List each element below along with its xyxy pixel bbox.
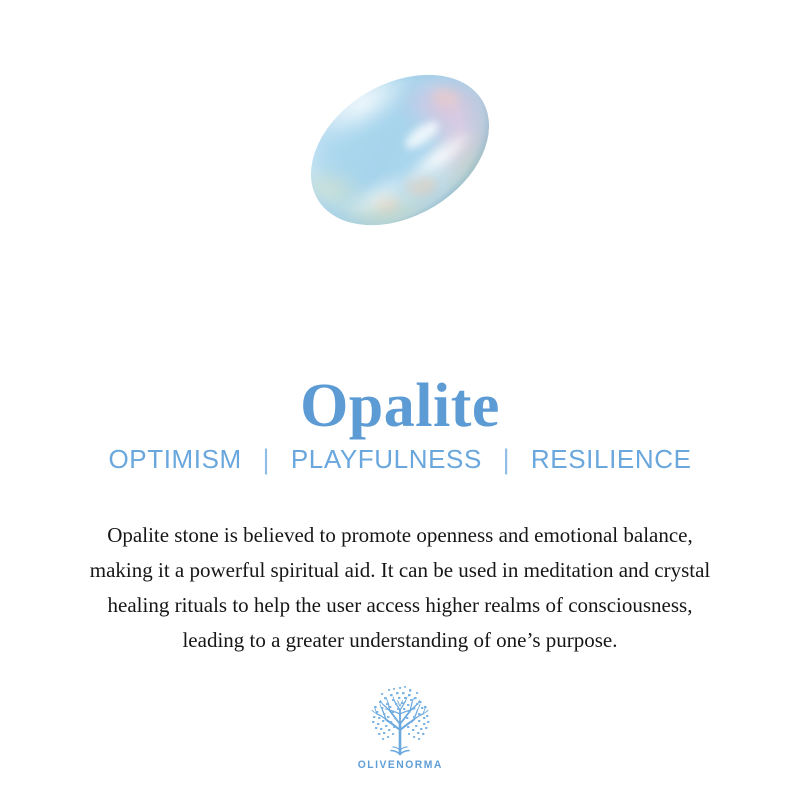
keyword-resilience: RESILIENCE bbox=[531, 444, 692, 475]
keyword-separator: | bbox=[250, 443, 283, 476]
description-line: leading to a greater understanding of on… bbox=[0, 623, 800, 658]
brand-logo: OLIVENORMA bbox=[0, 684, 800, 771]
brand-wordmark: OLIVENORMA bbox=[357, 759, 442, 771]
keyword-separator: | bbox=[490, 443, 523, 476]
opalite-cabochon-image bbox=[270, 35, 530, 265]
description-line: healing rituals to help the user access … bbox=[0, 588, 800, 623]
page-title: Opalite bbox=[0, 374, 800, 439]
opalite-info-card: Opalite OPTIMISM | PLAYFULNESS | RESILIE… bbox=[0, 0, 800, 800]
stone-iridescence bbox=[284, 44, 518, 256]
keyword-playfulness: PLAYFULNESS bbox=[291, 444, 482, 475]
description-line: making it a powerful spiritual aid. It c… bbox=[0, 553, 800, 588]
description-paragraph: Opalite stone is believed to promote ope… bbox=[0, 518, 800, 658]
tree-of-life-icon bbox=[364, 684, 436, 758]
stone-body bbox=[284, 44, 517, 256]
keyword-list: OPTIMISM | PLAYFULNESS | RESILIENCE bbox=[0, 444, 800, 475]
stone-image-container bbox=[0, 0, 800, 300]
keyword-optimism: OPTIMISM bbox=[108, 444, 241, 475]
description-line: Opalite stone is believed to promote ope… bbox=[0, 518, 800, 553]
